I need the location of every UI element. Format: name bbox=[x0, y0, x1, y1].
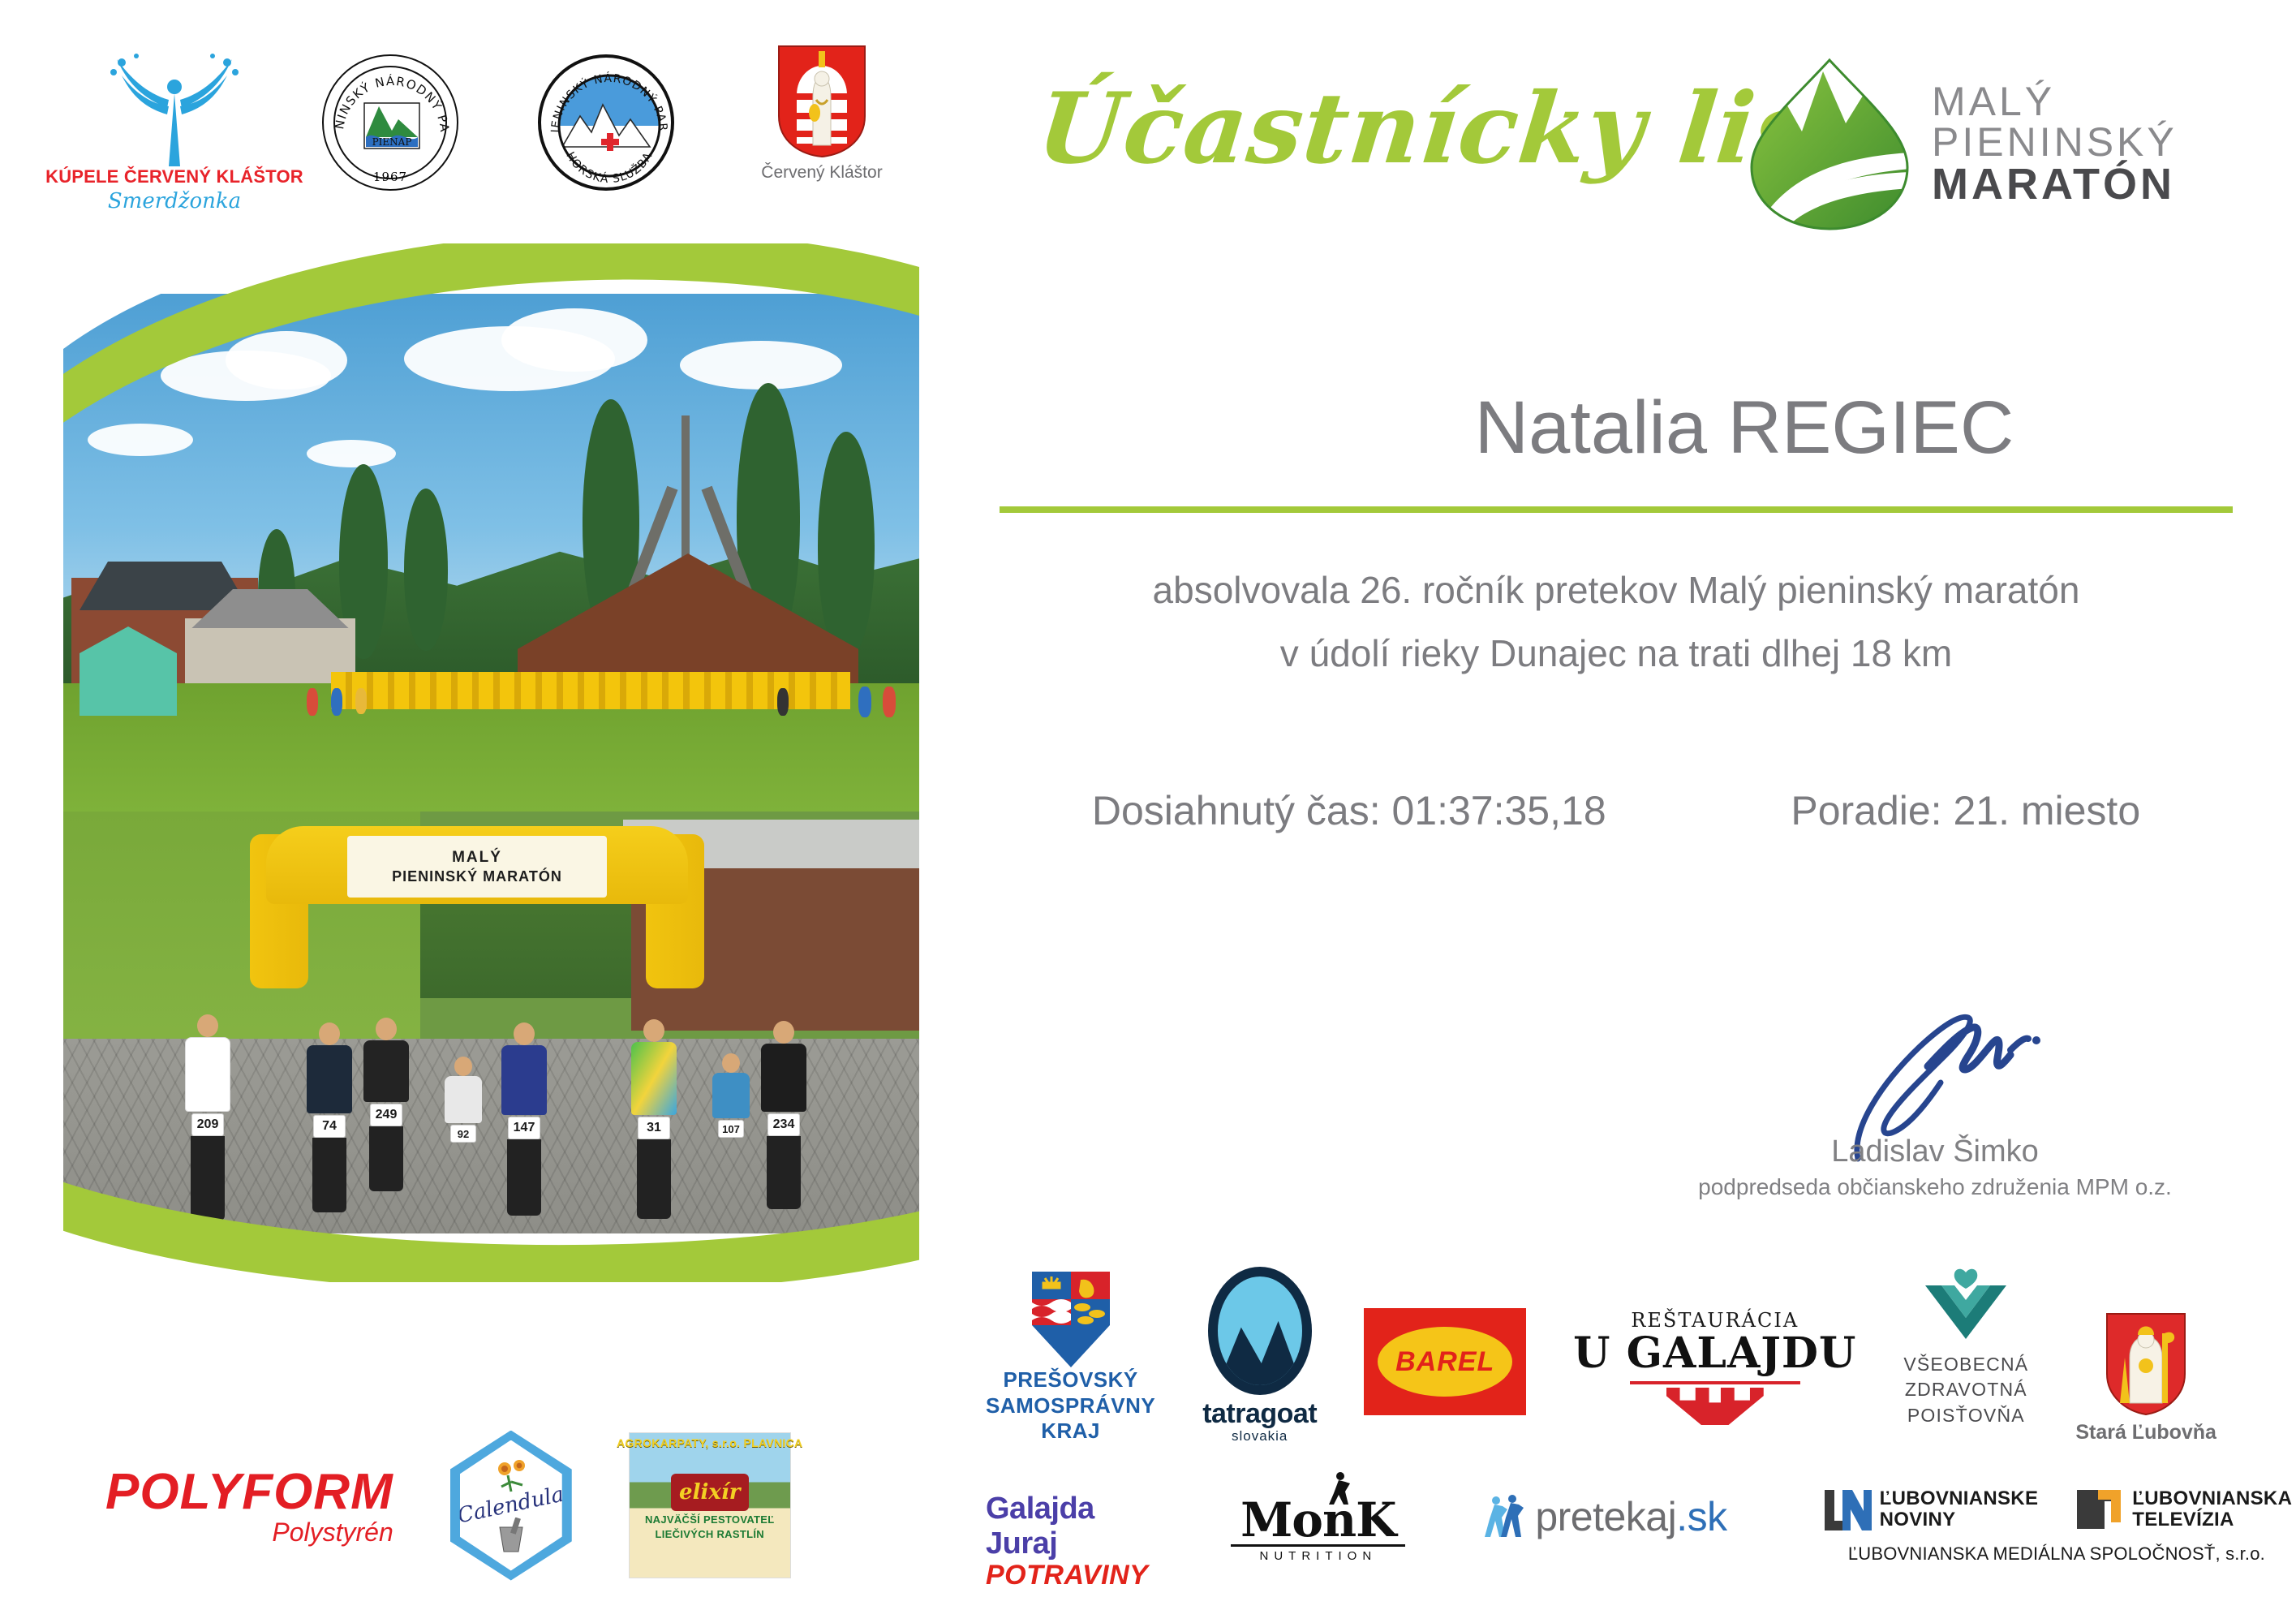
runner-bib: 147 bbox=[508, 1117, 540, 1139]
runner-bib: 74 bbox=[313, 1115, 346, 1138]
marigold-flower-icon bbox=[487, 1457, 535, 1493]
runner-bib: 209 bbox=[191, 1113, 224, 1136]
sponsor-line1: Galajda Juraj bbox=[986, 1492, 1148, 1561]
sponsor-stara-lubovna: Stará Ľubovňa bbox=[2075, 1312, 2216, 1444]
sponsor-brand: elixír bbox=[679, 1480, 740, 1505]
sponsor-agrokarpaty: AGROKARPATY, s.r.o. PLAVNICA elixír NAJV… bbox=[629, 1432, 791, 1578]
svg-text:PIENINSKÝ NÁRODNÝ PARK: PIENINSKÝ NÁRODNÝ PARK bbox=[324, 56, 452, 134]
sponsor-name: POLYFORM bbox=[105, 1463, 393, 1521]
runner: 147 bbox=[501, 1022, 547, 1216]
pienap-ring-text: PIENINSKÝ NÁRODNÝ PARK bbox=[324, 56, 452, 134]
sponsor-name: MonK bbox=[1240, 1498, 1395, 1543]
sponsor-tatragoat: tatragoat slovakia bbox=[1202, 1267, 1317, 1444]
sponsor-barel: BAREL bbox=[1364, 1308, 1526, 1415]
sponsor-line1: PREŠOVSKÝ bbox=[986, 1367, 1155, 1393]
runners-icon bbox=[1483, 1492, 1527, 1542]
sponsor-name-suffix: .sk bbox=[1676, 1494, 1726, 1539]
sponsor-header: AGROKARPATY, s.r.o. PLAVNICA bbox=[617, 1436, 802, 1449]
event-logo-line2: PIENINSKÝ bbox=[1932, 122, 2178, 162]
sponsor-lubovnianska-medialna: ĽUBOVNIANSKE NOVINY ĽUBOVNIANSKA TELEVÍZ… bbox=[1821, 1487, 2293, 1565]
event-logo: MALÝ PIENINSKÝ MARATÓN bbox=[1748, 50, 2251, 237]
media-company-name: ĽUBOVNIANSKA MEDIÁLNA SPOLOČNOSŤ, s.r.o. bbox=[1848, 1543, 2265, 1565]
green-leaf-mountain-mark bbox=[1748, 57, 1911, 231]
partner-label-line1: KÚPELE ČERVENÝ KLÁŠTOR bbox=[45, 166, 303, 187]
sponsor-vseobecna-zdravotna: VŠEOBECNÁ ZDRAVOTNÁ POISŤOVŇA bbox=[1903, 1268, 2028, 1428]
sponsor-subtitle: Polystyrén bbox=[272, 1518, 393, 1548]
event-logo-line1: MALÝ bbox=[1932, 81, 2178, 122]
sponsor-line3: KRAJ bbox=[986, 1419, 1155, 1444]
coat-of-arms-monk-icon bbox=[777, 45, 866, 158]
pienap-year: 1967 bbox=[324, 170, 457, 184]
vzp-heart-icon bbox=[1920, 1268, 2011, 1345]
sponsor-tagline1: NAJVÄČŠÍ PESTOVATEĽ bbox=[645, 1513, 775, 1526]
sponsor-calendula: Calendula bbox=[450, 1431, 572, 1581]
partner-pienap: PIENINSKÝ NÁRODNÝ PARK PIENAP 1967 bbox=[305, 54, 475, 191]
runner: 209 bbox=[185, 1014, 230, 1220]
runner-bib: 31 bbox=[638, 1117, 670, 1139]
runner-bib: 107 bbox=[718, 1120, 744, 1138]
sponsor-name: Stará Ľubovňa bbox=[2075, 1421, 2216, 1444]
sponsor-pretekaj-sk: pretekaj.sk bbox=[1483, 1492, 1726, 1542]
sponsor-tagline2: LIEČIVÝCH RASTLÍN bbox=[656, 1528, 764, 1540]
sponsor-line2: ZDRAVOTNÁ bbox=[1903, 1377, 2028, 1402]
arch-line2: PIENINSKÝ MARATÓN bbox=[392, 868, 562, 885]
signatory-name: Ladislav Šimko bbox=[1651, 1134, 2219, 1169]
runner: 234 bbox=[761, 1021, 806, 1209]
sponsor-subtitle: NUTRITION bbox=[1260, 1549, 1378, 1563]
certificate-line2: v údolí rieky Dunajec na trati dlhej 18 … bbox=[1000, 631, 2233, 675]
sponsor-u-galajdu: REŠTAURÁCIA U GALAJDU bbox=[1573, 1309, 1856, 1425]
park-seal-icon: PIENINSKÝ NÁRODNÝ PARK PIENAP 1967 bbox=[322, 54, 458, 191]
sponsor-name: tatragoat bbox=[1202, 1398, 1317, 1430]
runner: 74 bbox=[307, 1022, 352, 1212]
sponsor-line2: SAMOSPRÁVNY bbox=[986, 1393, 1155, 1419]
runner-bib: 234 bbox=[767, 1113, 800, 1136]
sponsor-polyform: POLYFORM Polystyrén bbox=[105, 1463, 393, 1548]
photo-panel: MALÝ PIENINSKÝ MARATÓN 209 74 249 bbox=[63, 243, 919, 1282]
sponsor-line2: POTRAVINY bbox=[986, 1560, 1148, 1591]
media-line4: TELEVÍZIA bbox=[2132, 1509, 2292, 1530]
media-line3: ĽUBOVNIANSKA bbox=[2132, 1488, 2292, 1509]
sponsor-name: U GALAJDU bbox=[1573, 1332, 1856, 1376]
mountain-rescue-seal-icon: PIENINSKÝ NÁRODNÝ PARK HORSKÁ SLUŽBA bbox=[538, 54, 674, 191]
media-line2: NOVINY bbox=[1880, 1509, 2039, 1530]
partner-label: Červený Kláštor bbox=[761, 163, 882, 183]
certificate-line1: absolvovala 26. ročník pretekov Malý pie… bbox=[1000, 568, 2233, 612]
runner: 92 bbox=[445, 1057, 482, 1143]
media-line1: ĽUBOVNIANSKE bbox=[1880, 1488, 2039, 1509]
sponsor-monk-nutrition: MonK NUTRITION bbox=[1231, 1469, 1405, 1563]
sponsor-galajda-juraj: Galajda Juraj POTRAVINY bbox=[986, 1492, 1148, 1591]
elixir-badge: elixír bbox=[671, 1474, 749, 1511]
mortar-pestle-icon bbox=[490, 1518, 532, 1553]
svg-text:PIENAP: PIENAP bbox=[372, 136, 412, 148]
coat-of-arms-bishop-icon bbox=[2105, 1312, 2186, 1416]
signatory-role: podpredseda občianskeho združenia MPM o.… bbox=[1651, 1174, 2219, 1200]
partner-horska-sluzba: PIENINSKÝ NÁRODNÝ PARK HORSKÁ SLUŽBA bbox=[521, 54, 691, 191]
arch-line1: MALÝ bbox=[452, 849, 502, 867]
water-angel-icon bbox=[97, 45, 252, 166]
sponsor-row-2: Galajda Juraj POTRAVINY MonK NUTRITION p… bbox=[986, 1469, 2268, 1615]
sponsor-line3: POISŤOVŇA bbox=[1903, 1403, 2028, 1428]
runner-bib: 92 bbox=[450, 1125, 476, 1143]
top-partner-logos: KÚPELE ČERVENÝ KLÁŠTOR Smerdžonka PIENIN… bbox=[89, 45, 941, 239]
finish-arch: MALÝ PIENINSKÝ MARATÓN bbox=[250, 826, 704, 988]
sponsor-row-1: PREŠOVSKÝ SAMOSPRÁVNY KRAJ tatragoat slo… bbox=[986, 1242, 2268, 1444]
sponsor-name: pretekaj bbox=[1535, 1494, 1676, 1539]
partner-label-line2: Smerdžonka bbox=[108, 189, 241, 213]
race-start-photo: MALÝ PIENINSKÝ MARATÓN 209 74 249 bbox=[63, 811, 919, 1233]
runner: 31 bbox=[631, 1019, 677, 1219]
ltv-logo-icon bbox=[2074, 1487, 2124, 1532]
partner-cerveny-klastor: Červený Kláštor bbox=[737, 45, 907, 183]
sponsor-subtitle: slovakia bbox=[1232, 1428, 1288, 1444]
sponsor-name: BAREL bbox=[1395, 1346, 1494, 1378]
result-row: Dosiahnutý čas: 01:37:35,18 Poradie: 21.… bbox=[1000, 787, 2233, 834]
page-title: Účastnícky list bbox=[1033, 71, 1863, 186]
runner-bib: 249 bbox=[370, 1104, 402, 1126]
amphitheatre-photo bbox=[63, 294, 919, 813]
green-divider bbox=[1000, 506, 2233, 513]
presov-coat-of-arms-icon bbox=[1032, 1272, 1110, 1367]
divider bbox=[1231, 1544, 1405, 1547]
sponsor-line1: VŠEOBECNÁ bbox=[1903, 1352, 2028, 1377]
sponsor-presovsky-kraj: PREŠOVSKÝ SAMOSPRÁVNY KRAJ bbox=[986, 1272, 1155, 1444]
ln-logo-icon bbox=[1821, 1487, 1872, 1532]
divider bbox=[1630, 1381, 1800, 1384]
folk-ornament-icon bbox=[1666, 1388, 1764, 1425]
ranking-place: Poradie: 21. miesto bbox=[1791, 787, 2140, 834]
goat-mountain-icon bbox=[1208, 1267, 1312, 1395]
signature-block: Ladislav Šimko podpredseda občianskeho z… bbox=[1651, 998, 2219, 1200]
achieved-time: Dosiahnutý čas: 01:37:35,18 bbox=[1092, 787, 1606, 834]
event-logo-line3: MARATÓN bbox=[1932, 162, 2178, 206]
participant-name: Natalia REGIEC bbox=[1266, 385, 2223, 471]
partner-kupele-cerveny-klastor: KÚPELE ČERVENÝ KLÁŠTOR Smerdžonka bbox=[89, 45, 260, 213]
runner: 249 bbox=[363, 1018, 409, 1191]
sponsor-row-left: POLYFORM Polystyrén Calendula AGROKARPAT… bbox=[105, 1412, 933, 1599]
runner: 107 bbox=[712, 1053, 750, 1138]
